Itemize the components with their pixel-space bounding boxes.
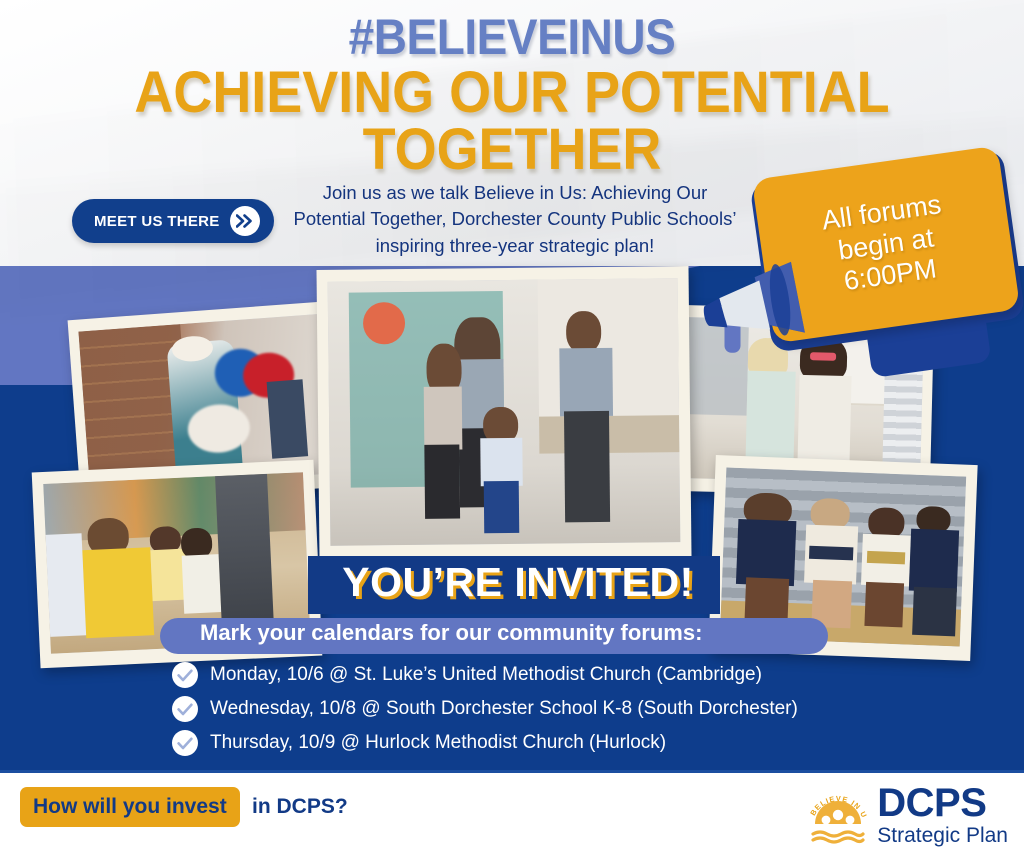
forum-list: Monday, 10/6 @ St. Luke’s United Methodi… — [172, 662, 932, 764]
logo-wordmark: DCPS Strategic Plan — [877, 783, 1008, 846]
list-item: Wednesday, 10/8 @ South Dorchester Schoo… — [172, 696, 932, 722]
invest-tail-text: in DCPS? — [252, 795, 348, 819]
check-circle-icon — [172, 730, 198, 756]
invest-tail: in DCPS? — [252, 787, 348, 827]
meet-us-there-label: MEET US THERE — [94, 213, 220, 230]
forum-time-text: All forums begin at 6:00PM — [808, 187, 964, 302]
megaphone-icon — [696, 258, 821, 373]
hashtag-believeinus: #BELIEVEINUS — [41, 12, 983, 62]
double-chevron-right-icon — [230, 206, 260, 236]
check-circle-icon — [172, 662, 198, 688]
calendar-subhead: Mark your calendars for our community fo… — [200, 620, 840, 646]
page-title-line-1: ACHIEVING OUR POTENTIAL — [36, 66, 988, 119]
meet-us-there-button[interactable]: MEET US THERE — [72, 199, 274, 243]
forum-time-badge-group: All forums begin at 6:00PM — [700, 160, 1024, 370]
photo-hallway — [316, 266, 691, 560]
invest-highlight-pill: How will you invest — [20, 787, 240, 827]
forum-label: Monday, 10/6 @ St. Luke’s United Methodi… — [210, 664, 762, 686]
dcps-logo: BELIEVE IN US DCPS Strategic Plan — [805, 783, 1008, 845]
invest-highlight-text: How will you invest — [33, 795, 227, 819]
list-item: Thursday, 10/9 @ Hurlock Methodist Churc… — [172, 730, 932, 756]
dcps-sunrise-figures-icon: BELIEVE IN US — [805, 784, 871, 844]
check-circle-icon — [172, 696, 198, 722]
forum-label: Thursday, 10/9 @ Hurlock Methodist Churc… — [210, 732, 666, 754]
invited-headline: YOU’RE INVITED! — [318, 553, 718, 612]
logo-subtitle: Strategic Plan — [877, 825, 1008, 846]
list-item: Monday, 10/6 @ St. Luke’s United Methodi… — [172, 662, 932, 688]
logo-title: DCPS — [877, 783, 1008, 823]
flyer-poster: #BELIEVEINUS ACHIEVING OUR POTENTIAL TOG… — [0, 0, 1024, 858]
forum-label: Wednesday, 10/8 @ South Dorchester Schoo… — [210, 698, 798, 720]
headline-block: #BELIEVEINUS ACHIEVING OUR POTENTIAL TOG… — [0, 12, 1024, 177]
photo-hallway-image — [328, 278, 681, 546]
intro-paragraph: Join us as we talk Believe in Us: Achiev… — [290, 180, 740, 259]
